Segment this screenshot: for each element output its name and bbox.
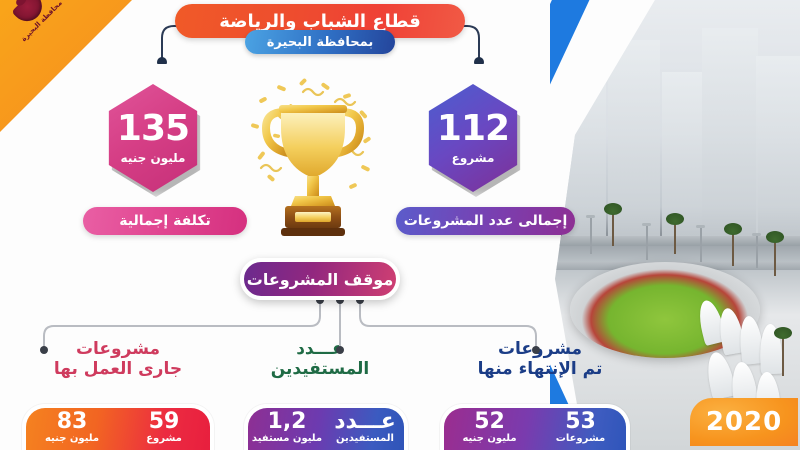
column-completed-line2: تم الإنتهاء منها (478, 359, 603, 379)
stat-hex-projects-value: 112 (437, 111, 509, 147)
value-unit: مليون مستفيد (252, 434, 322, 445)
value-cell: 83 مليون جنيه (26, 408, 118, 450)
stat-hex-cost-unit: مليون جنيه (121, 151, 186, 165)
value-unit: المستفيدين (336, 434, 394, 445)
value-unit: مليون جنيه (462, 434, 516, 445)
photo-panel (550, 0, 800, 450)
stat-hex-cost-value: 135 (117, 111, 189, 147)
value-cell: 1,2 مليون مستفيد (248, 408, 326, 450)
stat-hex-projects-caption: إجمالى عدد المشروعات (396, 207, 575, 235)
value-number: 59 (149, 410, 180, 433)
value-unit: مشروعات (556, 434, 605, 445)
value-pill-beneficiaries: عـــدد المستفيدين 1,2 مليون مستفيد (244, 404, 408, 450)
trophy-illustration (243, 72, 383, 247)
value-unit: مشروع (146, 434, 182, 445)
value-number: 83 (57, 410, 88, 433)
value-number: 53 (565, 410, 596, 433)
value-cell: 59 مشروع (118, 408, 210, 450)
value-number: عـــدد (334, 410, 396, 433)
value-unit: مليون جنيه (45, 434, 99, 445)
stat-hex-cost-caption: تكلفة إجمالية (83, 207, 247, 235)
value-cell: 53 مشروعات (535, 408, 626, 450)
value-pill-completed: 53 مشروعات 52 مليون جنيه (440, 404, 630, 450)
value-number: 1,2 (268, 410, 307, 433)
column-beneficiaries-line2: المستفيدين (271, 359, 370, 379)
value-number: 52 (474, 410, 505, 433)
value-cell: 52 مليون جنيه (444, 408, 535, 450)
stat-hex-projects-unit: مشروع (452, 151, 495, 165)
column-in-progress-line2: جارى العمل بها (54, 359, 182, 379)
page-subtitle: بمحافظة البحيرة (245, 30, 395, 54)
infographic-canvas: محافظة البحيرة قطاع الشباب والرياضة بمحا… (0, 0, 800, 450)
branch-connectors (30, 292, 550, 356)
value-cell: عـــدد المستفيدين (326, 408, 404, 450)
trophy-icon (243, 72, 383, 247)
value-pill-in-progress: 59 مشروع 83 مليون جنيه (22, 404, 214, 450)
year-badge: 2020 (690, 398, 798, 446)
status-badge: موقف المشروعات (240, 258, 400, 300)
